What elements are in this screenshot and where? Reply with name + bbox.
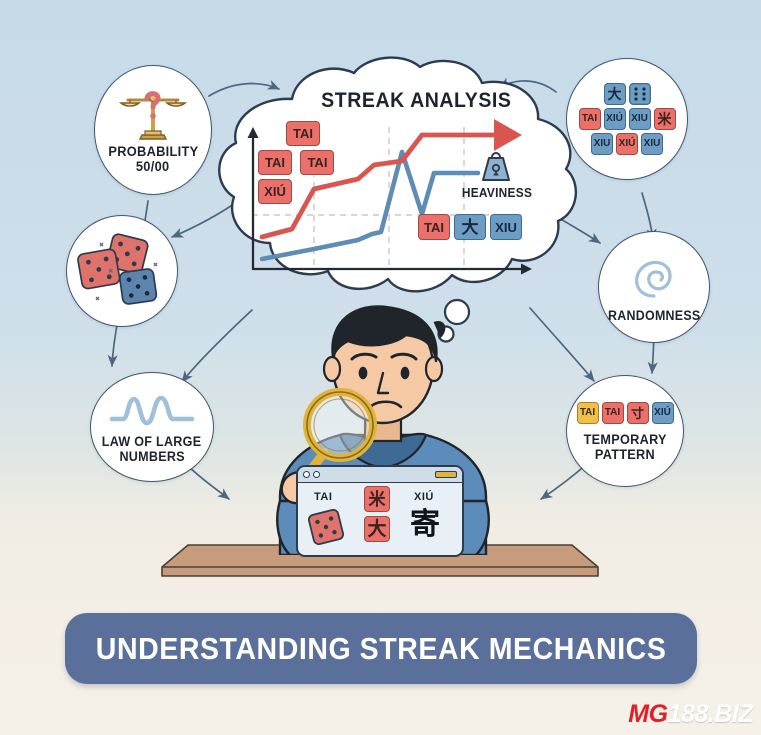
tile-xiu: XIU <box>641 133 663 155</box>
infographic-canvas: STREAK ANALYSIS <box>0 0 761 735</box>
tile-dice-six-icon <box>629 83 651 105</box>
node-lln-label-line2: NUMBERS <box>119 450 184 465</box>
node-randomness[interactable]: RANDOMNESS <box>598 231 710 343</box>
tablet-label-tai: TAI <box>314 491 332 503</box>
tile-hanzi: 寸 <box>627 402 649 424</box>
tablet-label-xiu: XIÚ <box>414 491 434 503</box>
spiral-icon <box>626 252 682 302</box>
tile-tai: TAI <box>577 402 599 424</box>
tile-tai: TAI <box>418 214 450 240</box>
node-probability[interactable]: PROBABILITY 50/00 <box>94 65 212 195</box>
tile-xiu: XIU <box>490 214 522 240</box>
node-probability-label-line2: 50/00 <box>136 160 170 175</box>
tile-da: 大 <box>604 83 626 105</box>
tablet-screen[interactable]: TAI XIÚ 米 大 寄 <box>296 465 464 557</box>
title-banner: UNDERSTANDING STREAK MECHANICS <box>65 613 697 684</box>
node-temporary-pattern-label-line1: TEMPORARY <box>583 433 666 448</box>
node-probability-label-line1: PROBABILITY <box>108 145 198 160</box>
title-banner-text: UNDERSTANDING STREAK MECHANICS <box>96 631 667 667</box>
tile-tai: TAI <box>300 150 334 175</box>
tile-xiu: XIÚ <box>258 179 292 204</box>
tile-hanzi-top: 米 <box>364 486 390 512</box>
tile-xiu: XIU <box>591 133 613 155</box>
window-dot-icon <box>313 471 320 478</box>
tile-tai: TAI <box>258 150 292 175</box>
balance-scale-question-icon <box>116 87 190 143</box>
node-lln-label-line1: LAW OF LARGE <box>102 435 202 450</box>
die-five-icon <box>308 509 344 545</box>
tile-xiu: XIU <box>629 108 651 130</box>
tile-xiu: XIÚ <box>652 402 674 424</box>
weight-icon <box>478 147 514 185</box>
tile-tai: TAI <box>579 108 601 130</box>
three-dice-icon <box>74 225 170 317</box>
tile-hanzi: 米 <box>654 108 676 130</box>
pattern-tiles-icon: TAI TAI 寸 XIÚ <box>577 402 674 424</box>
watermark-domain: 188.BIZ <box>668 700 753 729</box>
heaviness-label: HEAVINESS <box>462 186 532 200</box>
tile-xiu: XIÚ <box>604 108 626 130</box>
chart-bottom-tiles: TAI 大 XIU <box>418 214 522 240</box>
node-result-history[interactable]: 大 TAI XIÚ XIU 米 XIU XIÚ XI <box>566 58 688 180</box>
chart-title: STREAK ANALYSIS <box>321 89 511 113</box>
tablet-big-character: 寄 <box>410 510 440 540</box>
node-temporary-pattern-label-line2: PATTERN <box>595 448 655 463</box>
tile-da: 大 <box>454 214 486 240</box>
watermark: MG 188.BIZ <box>628 700 753 729</box>
wave-curve-icon <box>109 393 195 427</box>
tile-tai: TAI <box>602 402 624 424</box>
watermark-brand: MG <box>628 700 667 729</box>
tile-tai: TAI <box>286 121 320 146</box>
tablet-title-bar <box>298 467 462 483</box>
chart-left-tiles: TAI TAI TAI XIÚ <box>258 121 350 204</box>
node-temporary-pattern[interactable]: TAI TAI 寸 XIÚ TEMPORARY PATTERN <box>566 375 684 487</box>
thought-cloud: STREAK ANALYSIS <box>196 55 588 317</box>
window-dot-icon <box>303 471 310 478</box>
node-dice[interactable] <box>66 215 178 327</box>
tile-xiu: XIÚ <box>616 133 638 155</box>
tile-da: 大 <box>364 516 390 542</box>
node-randomness-label: RANDOMNESS <box>608 309 700 324</box>
node-law-of-large-numbers[interactable]: LAW OF LARGE NUMBERS <box>90 372 214 482</box>
result-tile-grid-icon: 大 TAI XIÚ XIU 米 XIU XIÚ XI <box>579 83 676 155</box>
window-bar-icon <box>435 471 457 478</box>
